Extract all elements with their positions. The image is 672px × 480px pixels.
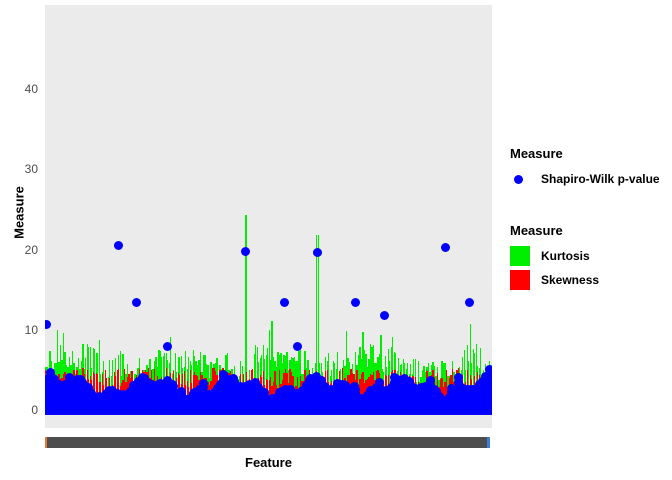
scatter-point-highlight bbox=[241, 247, 250, 256]
scatter-point-highlight bbox=[293, 342, 302, 351]
y-axis-tick-label: 40 bbox=[25, 83, 38, 95]
scatter-point-highlight bbox=[313, 248, 322, 257]
legend-skewness-swatch-icon bbox=[510, 270, 530, 290]
scatter-point-highlight bbox=[132, 298, 141, 307]
scatter-points-layer bbox=[45, 5, 492, 428]
scatter-point-highlight bbox=[441, 243, 450, 252]
scatter-point bbox=[199, 379, 208, 388]
scatter-point-highlight bbox=[380, 311, 389, 320]
legend-item-shapiro-wilk[interactable]: Shapiro-Wilk p-value bbox=[510, 169, 660, 189]
scatter-point-highlight bbox=[114, 241, 123, 250]
y-axis-title: Measure bbox=[12, 168, 27, 258]
legend-skewness-label: Skewness bbox=[541, 273, 599, 287]
y-axis-tick-label: 0 bbox=[31, 404, 38, 416]
scatter-point bbox=[485, 365, 492, 374]
scatter-point-highlight bbox=[351, 298, 360, 307]
legend-fill-title: Measure bbox=[510, 223, 599, 238]
x-axis-tick-label-band bbox=[47, 437, 489, 448]
y-axis-tick-label: 20 bbox=[25, 244, 38, 256]
y-axis-tick-label: 10 bbox=[25, 324, 38, 336]
legend-item-kurtosis[interactable]: Kurtosis bbox=[510, 246, 599, 266]
legend-kurtosis-label: Kurtosis bbox=[541, 249, 590, 263]
plot-panel bbox=[45, 5, 492, 428]
legend-kurtosis-swatch-icon bbox=[510, 246, 530, 266]
scatter-point bbox=[454, 373, 463, 382]
legend-point-marker-icon bbox=[510, 169, 532, 189]
legend-point-title: Measure bbox=[510, 146, 660, 161]
scatter-point-highlight bbox=[465, 298, 474, 307]
legend-item-skewness[interactable]: Skewness bbox=[510, 270, 599, 290]
scatter-point-highlight bbox=[280, 298, 289, 307]
legend-point-label: Shapiro-Wilk p-value bbox=[541, 172, 660, 186]
x-tick-band-right-marker bbox=[487, 437, 490, 448]
legend-point: Measure Shapiro-Wilk p-value bbox=[510, 146, 660, 193]
legend-fill: Measure Kurtosis Skewness bbox=[510, 223, 599, 294]
scatter-point-highlight bbox=[45, 320, 51, 329]
y-axis-tick-label: 30 bbox=[25, 163, 38, 175]
x-axis-title: Feature bbox=[45, 455, 492, 470]
chart-root: 010203040 Measure Feature Measure Shapir… bbox=[0, 0, 672, 480]
scatter-point bbox=[487, 379, 492, 388]
scatter-point-highlight bbox=[163, 342, 172, 351]
